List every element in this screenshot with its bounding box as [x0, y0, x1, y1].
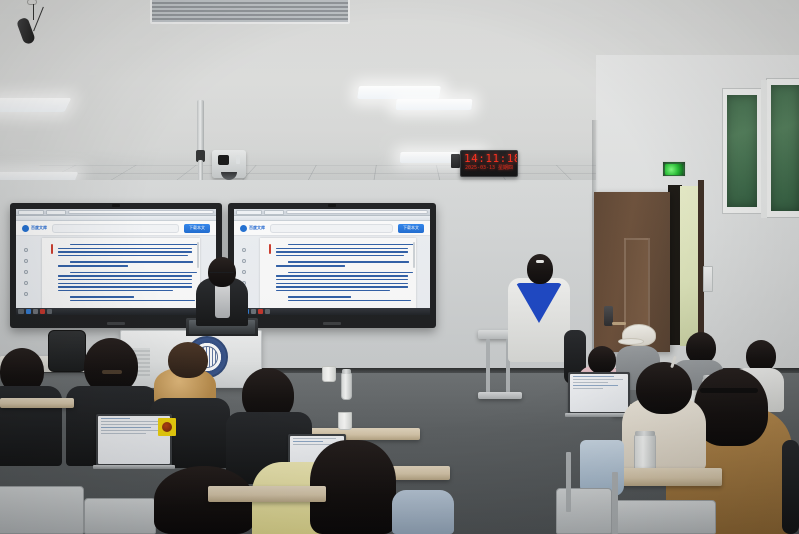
display-camera-icon [328, 204, 336, 207]
document-tool-gutter[interactable] [24, 248, 28, 303]
taskbar-app-icon[interactable] [26, 309, 31, 314]
display-brand-logo [107, 322, 125, 325]
student-head [168, 342, 208, 378]
student-head [588, 346, 616, 374]
document-scrollbar[interactable] [413, 242, 415, 268]
bottle-cap [635, 431, 655, 436]
light-switch-panel[interactable] [703, 266, 713, 292]
display-camera-icon [112, 204, 120, 207]
left-interactive-display[interactable]: 百度文库 下载本文 [10, 203, 222, 328]
hair-clip-icon [536, 260, 544, 263]
gutter-tool-icon[interactable] [24, 292, 28, 296]
laptop-warning-sticker [158, 418, 176, 436]
right-display-screen[interactable]: 百度文库 下载本文 [234, 209, 430, 315]
taskbar-app-icon[interactable] [265, 309, 270, 314]
clock-time: 14:11:18 [464, 153, 514, 165]
window-mullion [761, 80, 767, 218]
browser-url-input[interactable] [286, 210, 428, 214]
water-bottle [341, 372, 352, 400]
document-page[interactable] [42, 238, 200, 315]
taskbar-app-icon[interactable] [251, 309, 256, 314]
app-logo-mark-icon [22, 225, 29, 232]
clock-wall-mount [451, 154, 460, 168]
door-handle-icon[interactable] [612, 322, 626, 325]
standing-student-head [527, 254, 553, 284]
document-scrollbar[interactable] [197, 242, 199, 268]
os-taskbar[interactable] [16, 308, 216, 315]
student-head [636, 362, 692, 414]
student-chair[interactable] [0, 486, 84, 534]
doorway-corridor-light [680, 186, 700, 346]
student-laptop[interactable] [568, 372, 630, 414]
taskbar-app-icon[interactable] [258, 309, 263, 314]
student-chair[interactable] [84, 498, 156, 534]
app-logo: 百度文库 [22, 225, 47, 232]
side-av-cart-shelf [478, 392, 522, 399]
camera-indicator-icon [236, 155, 240, 164]
document-app-header[interactable]: 百度文库 下载本文 [234, 221, 430, 236]
instructor-shirt [215, 284, 230, 318]
ceiling-mount-pole [197, 100, 204, 152]
download-document-button[interactable]: 下载本文 [398, 224, 424, 233]
app-name: 百度文库 [249, 225, 265, 231]
emergency-exit-sign [662, 161, 686, 177]
document-viewport[interactable] [234, 236, 430, 308]
browser-chrome-bar[interactable] [234, 209, 430, 216]
cart-leg [486, 339, 490, 395]
app-logo-mark-icon [240, 225, 247, 232]
desk-leg [566, 452, 571, 512]
display-brand-logo [323, 322, 341, 325]
sticker-emblem-icon [162, 422, 173, 433]
document-app-header[interactable]: 百度文库 下载本文 [16, 221, 216, 236]
exit-sign-glow-icon [665, 164, 683, 175]
document-text-block [276, 244, 408, 304]
window-glass [727, 95, 757, 207]
document-search-input[interactable] [52, 224, 179, 233]
student-chair[interactable] [610, 500, 716, 534]
paper-cup [322, 366, 336, 382]
classroom-photo-scene: 14:11:18 2025-03-13 星期四 百 [0, 0, 799, 534]
browser-tab[interactable] [46, 210, 66, 215]
door-jamb [698, 180, 704, 350]
browser-url-input[interactable] [68, 210, 214, 214]
gutter-tool-icon[interactable] [24, 248, 28, 252]
hair-tie-icon [102, 370, 122, 374]
cursor-marker-icon [51, 244, 53, 254]
browser-chrome-bar[interactable] [16, 209, 216, 216]
ceiling-air-vent [150, 0, 350, 24]
led-wall-clock: 14:11:18 2025-03-13 星期四 [460, 150, 518, 177]
gutter-tool-icon[interactable] [242, 248, 246, 252]
laptop-base [93, 465, 175, 469]
app-name: 百度文库 [31, 225, 47, 231]
cap-brim [618, 338, 644, 345]
student-chair[interactable] [556, 488, 612, 534]
window-glass [771, 85, 799, 211]
taskbar-start-icon[interactable] [18, 309, 24, 314]
document-viewport[interactable] [16, 236, 216, 308]
mic-cable [33, 4, 34, 20]
left-display-screen[interactable]: 百度文库 下载本文 [16, 209, 216, 315]
gutter-tool-icon[interactable] [242, 270, 246, 274]
document-page[interactable] [260, 238, 416, 315]
taskbar-app-icon[interactable] [33, 309, 38, 314]
ceiling-light-panel [357, 86, 441, 99]
student-desk [208, 486, 326, 502]
browser-tab[interactable] [264, 210, 284, 215]
student-cap [622, 324, 656, 346]
os-taskbar[interactable] [234, 308, 430, 315]
camera-lens-icon [218, 155, 229, 165]
paper-cup [338, 412, 352, 430]
ceiling-light-panel [0, 98, 71, 112]
gutter-tool-icon[interactable] [24, 259, 28, 263]
gutter-tool-icon[interactable] [24, 270, 28, 274]
door-panel-inset [624, 238, 650, 336]
browser-tab[interactable] [18, 210, 44, 215]
taskbar-app-icon[interactable] [47, 309, 52, 314]
right-interactive-display[interactable]: 百度文库 下载本文 [228, 203, 436, 328]
desk-leg [612, 472, 618, 534]
taskbar-app-icon[interactable] [40, 309, 45, 314]
download-document-button[interactable]: 下载本文 [184, 224, 210, 233]
browser-tab[interactable] [236, 210, 262, 215]
mic-mount-ring [27, 0, 37, 5]
instructor-glasses-icon [209, 272, 234, 275]
ceiling-light-panel [395, 99, 472, 110]
document-text-block [58, 244, 192, 304]
laptop-screen[interactable] [570, 374, 628, 412]
gutter-tool-icon[interactable] [24, 281, 28, 285]
clock-date: 2025-03-13 星期四 [464, 165, 514, 172]
app-logo: 百度文库 [240, 225, 265, 232]
student-bag-strap [782, 440, 799, 534]
student-body [392, 490, 454, 534]
document-search-input[interactable] [270, 224, 393, 233]
cursor-marker-icon [269, 244, 271, 254]
teacher-chair[interactable] [48, 330, 86, 372]
bottle-cap [342, 369, 351, 374]
hair-band-icon [700, 388, 758, 393]
gutter-tool-icon[interactable] [242, 259, 246, 263]
student-desk [0, 398, 74, 408]
